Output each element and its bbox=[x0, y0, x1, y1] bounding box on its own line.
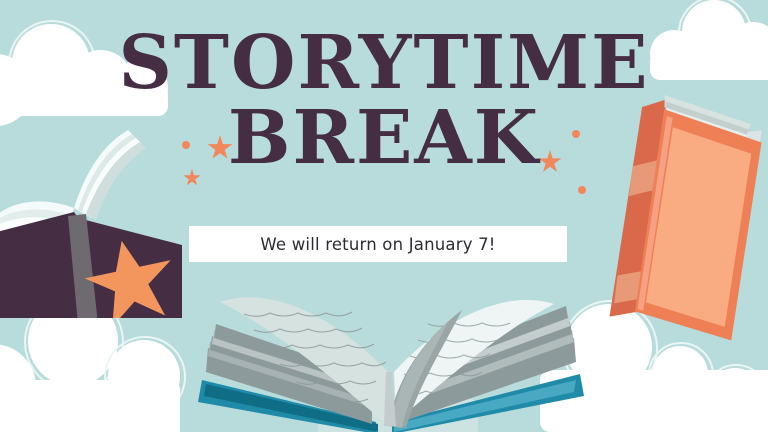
closed-book-orange-illustration bbox=[604, 92, 768, 342]
cloud-base bbox=[650, 52, 768, 80]
cloud-base bbox=[0, 380, 180, 432]
book-gutter bbox=[384, 372, 396, 426]
cloud-top-left bbox=[0, 2, 230, 110]
dot-right-upper bbox=[572, 130, 580, 138]
star-left-small bbox=[183, 169, 201, 187]
subtitle-text: We will return on January 7! bbox=[260, 235, 495, 254]
star-left-large bbox=[207, 135, 233, 161]
dot-right-lower bbox=[578, 186, 586, 194]
slide-canvas: STORYTIME BREAK We will return on Januar… bbox=[0, 0, 768, 432]
star-right bbox=[538, 150, 562, 174]
dot-left-upper bbox=[182, 141, 190, 149]
cloud-top-right bbox=[660, 0, 768, 96]
open-book-purple-star-illustration bbox=[0, 118, 182, 318]
subtitle-banner: We will return on January 7! bbox=[189, 226, 567, 262]
cloud-base bbox=[0, 86, 168, 116]
open-book-teal-illustration bbox=[196, 276, 586, 432]
